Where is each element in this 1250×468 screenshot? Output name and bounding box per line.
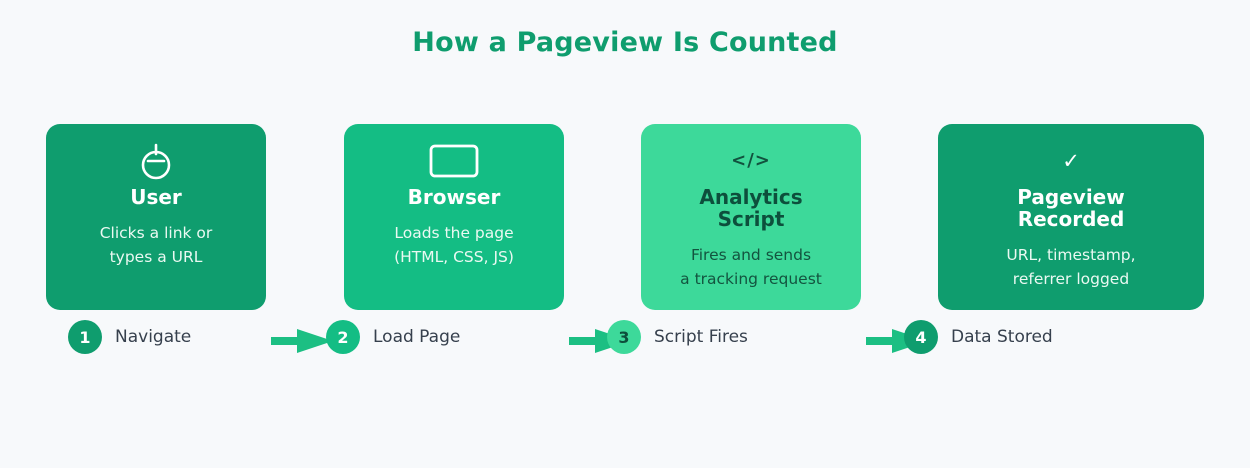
flow-card-desc: Clicks a link or types a URL	[100, 221, 213, 269]
step-item-navigate: 1 Navigate	[68, 320, 191, 354]
step-label: Script Fires	[654, 327, 748, 347]
step-number-badge: 4	[904, 320, 938, 354]
flow-card-browser: Browser Loads the page (HTML, CSS, JS)	[344, 124, 564, 310]
desc-line: Loads the page	[394, 221, 514, 245]
desc-line: Clicks a link or	[100, 221, 213, 245]
flow-card-title: Browser	[408, 186, 501, 208]
pageview-flow-diagram: User Clicks a link or types a URL Browse…	[46, 124, 1204, 310]
desc-line: referrer logged	[1006, 267, 1135, 291]
page-title: How a Pageview Is Counted	[0, 27, 1250, 58]
flow-card-analytics-script: </> Analytics Script Fires and sends a t…	[641, 124, 861, 310]
title-line: Recorded	[1017, 208, 1124, 230]
flow-card-title: Analytics Script	[699, 186, 802, 230]
step-item-script-fires: 3 Script Fires	[607, 320, 748, 354]
desc-line: types a URL	[100, 245, 213, 269]
desc-line: Fires and sends	[680, 243, 822, 267]
flow-card-desc: Fires and sends a tracking request	[680, 243, 822, 291]
browser-window-icon	[423, 140, 485, 182]
step-number-badge: 1	[68, 320, 102, 354]
check-glyph: ✓	[1062, 151, 1080, 172]
check-icon: ✓	[1062, 140, 1080, 182]
title-line: Analytics	[699, 186, 802, 208]
desc-line: (HTML, CSS, JS)	[394, 245, 514, 269]
flow-card-desc: Loads the page (HTML, CSS, JS)	[394, 221, 514, 269]
step-item-load-page: 2 Load Page	[326, 320, 460, 354]
flow-card-pageview-recorded: ✓ Pageview Recorded URL, timestamp, refe…	[938, 124, 1204, 310]
flow-card-title: User	[130, 186, 182, 208]
desc-line: a tracking request	[680, 267, 822, 291]
step-number-badge: 3	[607, 320, 641, 354]
flow-card-desc: URL, timestamp, referrer logged	[1006, 243, 1135, 291]
step-item-data-stored: 4 Data Stored	[904, 320, 1053, 354]
code-tag-glyph: </>	[731, 152, 771, 170]
code-tag-icon: </>	[731, 140, 771, 182]
step-label: Data Stored	[951, 327, 1053, 347]
flow-card-title: Pageview Recorded	[1017, 186, 1124, 230]
user-icon	[133, 140, 179, 182]
desc-line: URL, timestamp,	[1006, 243, 1135, 267]
title-line: Script	[699, 208, 802, 230]
step-label: Load Page	[373, 327, 460, 347]
title-line: Pageview	[1017, 186, 1124, 208]
flow-card-user: User Clicks a link or types a URL	[46, 124, 266, 310]
step-label: Navigate	[115, 327, 191, 347]
step-number-badge: 2	[326, 320, 360, 354]
